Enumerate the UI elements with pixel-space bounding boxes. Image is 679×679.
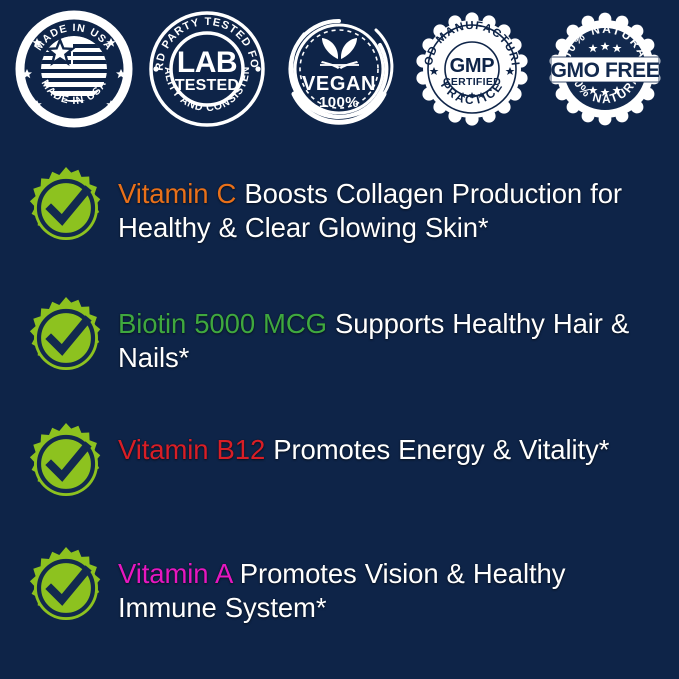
svg-text:GMO FREE: GMO FREE: [550, 59, 659, 82]
lab-tested-seal: 3RD PARTY TESTED FOR QUALITY AND CONSIST…: [148, 10, 266, 128]
nutrient-name: Biotin 5000 MCG: [118, 308, 327, 339]
nutrient-name: Vitamin C: [118, 178, 236, 209]
made-in-usa-seal: MADE IN USA MADE IN USA: [15, 10, 133, 128]
nutrient-name: Vitamin A: [118, 558, 232, 589]
gmp-certified-seal: GOOD MANUFACTURING PRACTICE GMP CERTIFIE…: [413, 10, 531, 128]
svg-text:GMP: GMP: [450, 55, 495, 77]
benefit-row: Vitamin B12 Promotes Energy & Vitality*: [24, 422, 670, 506]
benefit-row: Vitamin C Boosts Collagen Production for…: [24, 166, 670, 250]
svg-text:100%: 100%: [320, 94, 360, 111]
benefit-text: Vitamin C Boosts Collagen Production for…: [118, 166, 670, 244]
svg-text:TESTED: TESTED: [175, 77, 239, 94]
green-checkmark-badge-icon: [24, 422, 108, 506]
nutrient-name: Vitamin B12: [118, 434, 265, 465]
vegan-seal: VEGAN 100%: [280, 10, 398, 128]
benefit-description: Promotes Energy & Vitality*: [265, 434, 609, 465]
benefit-row: Vitamin A Promotes Vision & Healthy Immu…: [24, 546, 670, 630]
benefit-text: Vitamin A Promotes Vision & Healthy Immu…: [118, 546, 670, 624]
green-checkmark-badge-icon: [24, 296, 108, 380]
benefit-text: Biotin 5000 MCG Supports Healthy Hair & …: [118, 296, 670, 374]
green-checkmark-badge-icon: [24, 546, 108, 630]
benefit-text: Vitamin B12 Promotes Energy & Vitality*: [118, 422, 670, 467]
benefit-row: Biotin 5000 MCG Supports Healthy Hair & …: [24, 296, 670, 380]
green-checkmark-badge-icon: [24, 166, 108, 250]
svg-text:CERTIFIED: CERTIFIED: [443, 76, 501, 88]
certification-badge-strip: MADE IN USA MADE IN USA: [0, 6, 679, 132]
svg-text:VEGAN: VEGAN: [302, 73, 376, 95]
gmo-free-seal: 100% NATURAL 100% NATURAL GMO FREE: [546, 10, 664, 128]
leaf-icon: [320, 38, 359, 69]
benefits-list: Vitamin C Boosts Collagen Production for…: [0, 150, 679, 679]
svg-text:LAB: LAB: [177, 46, 237, 79]
product-benefits-infographic: MADE IN USA MADE IN USA: [0, 0, 679, 679]
